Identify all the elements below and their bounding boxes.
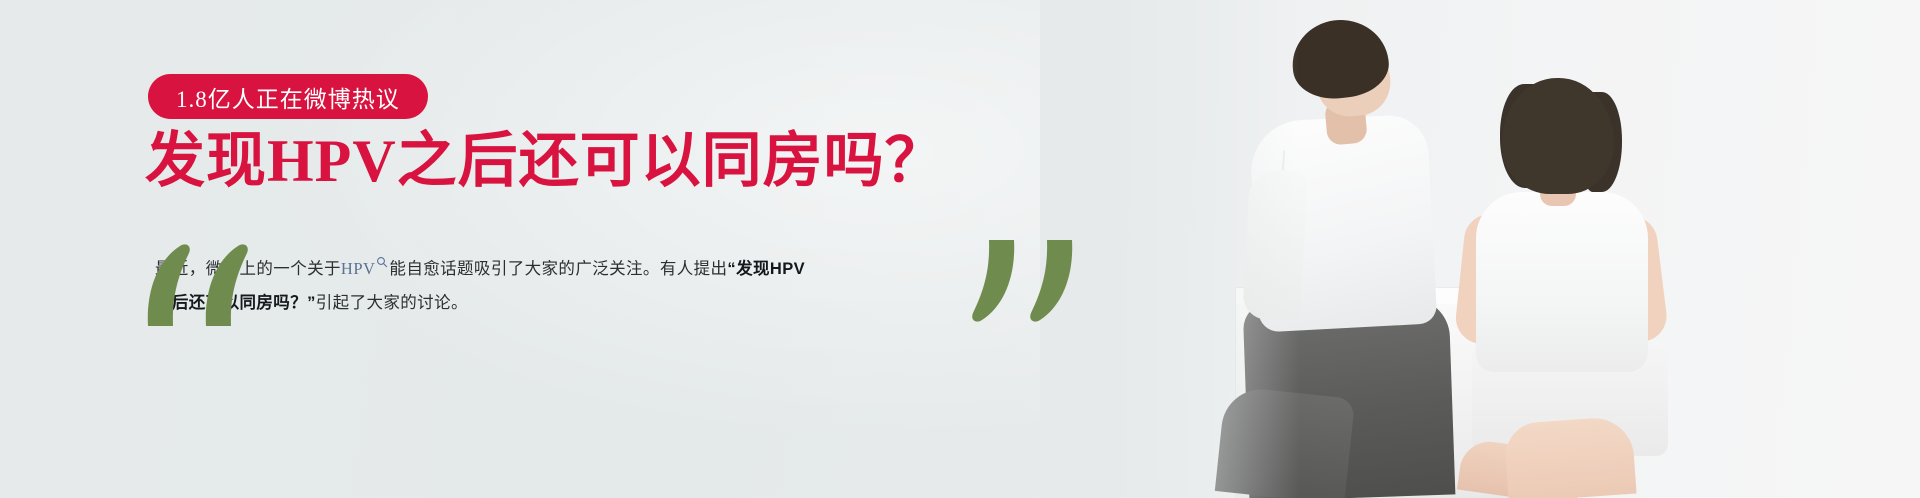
woman-top [1476,192,1648,372]
banner-text-column: 1.8亿人正在微博热议 发现HPV之后还可以同房吗？ [145,0,965,498]
hot-topic-badge[interactable]: 1.8亿人正在微博热议 [148,74,428,119]
quote-close-icon [960,238,1080,328]
page-title: 发现HPV之后还可以同房吗？ [145,128,946,195]
woman-leg-front [1503,416,1636,498]
couple-photo [1040,0,1920,498]
hpv-topic-banner: 1.8亿人正在微博热议 发现HPV之后还可以同房吗？ 最近，微博上的一个关于HP… [0,0,1920,498]
